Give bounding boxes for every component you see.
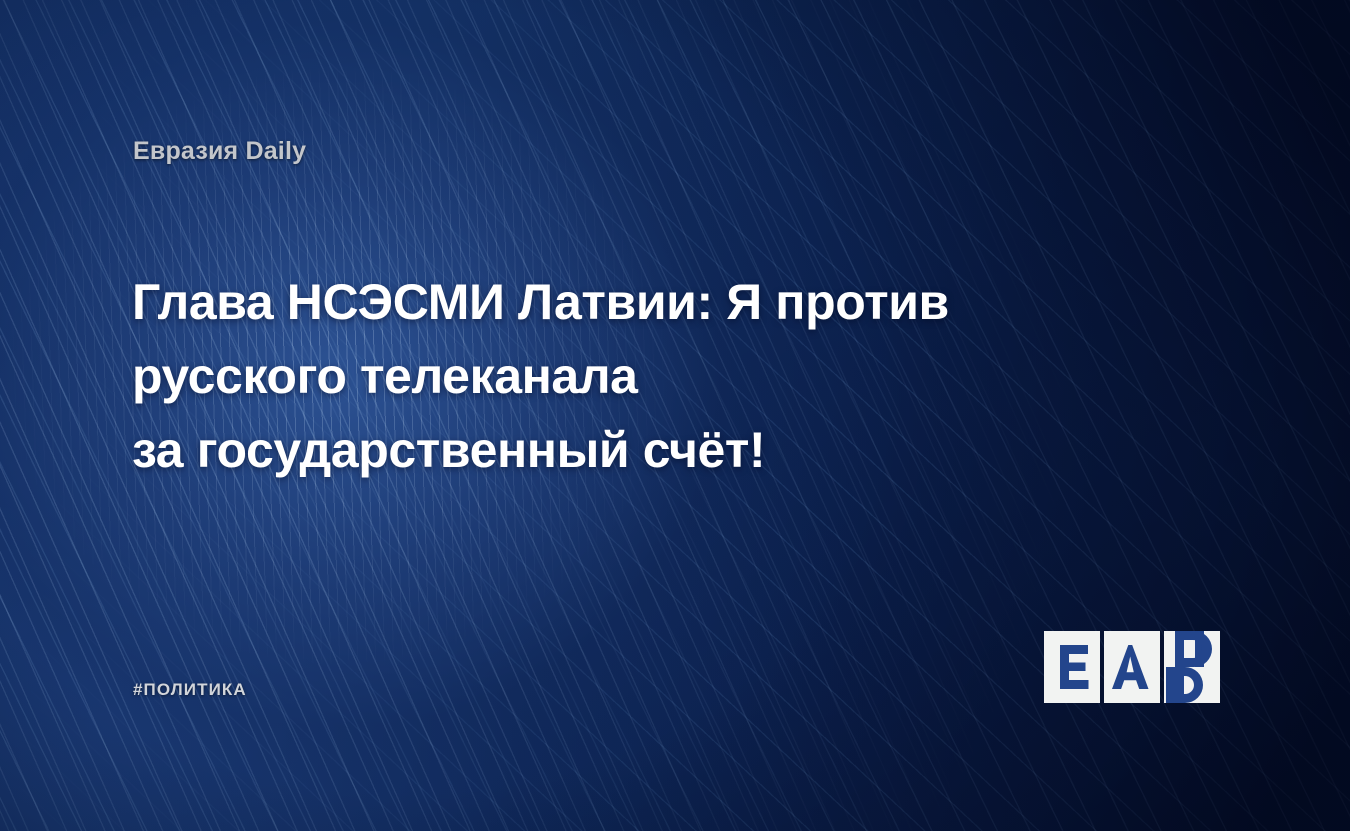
logo-letter-e xyxy=(1060,645,1089,689)
headline-line-3: за государственный счёт! xyxy=(132,413,1032,487)
topic-hashtag[interactable]: #ПОЛИТИКА xyxy=(133,680,247,700)
headline-line-1: Глава НСЭСМИ Латвии: Я против xyxy=(132,265,1032,339)
logo-letter-d-stem-lower xyxy=(1166,667,1175,703)
ead-logo[interactable] xyxy=(1044,627,1220,707)
logo-tile-a xyxy=(1104,631,1160,703)
brand-name-label: Евразия Daily xyxy=(133,137,306,166)
headline: Глава НСЭСМИ Латвии: Я против русского т… xyxy=(132,265,1032,487)
news-share-card: Евразия Daily Глава НСЭСМИ Латвии: Я про… xyxy=(0,0,1350,831)
headline-line-2: русского телеканала xyxy=(132,339,1032,413)
card-content: Евразия Daily Глава НСЭСМИ Латвии: Я про… xyxy=(0,0,1350,831)
ead-logo-svg xyxy=(1044,627,1220,707)
